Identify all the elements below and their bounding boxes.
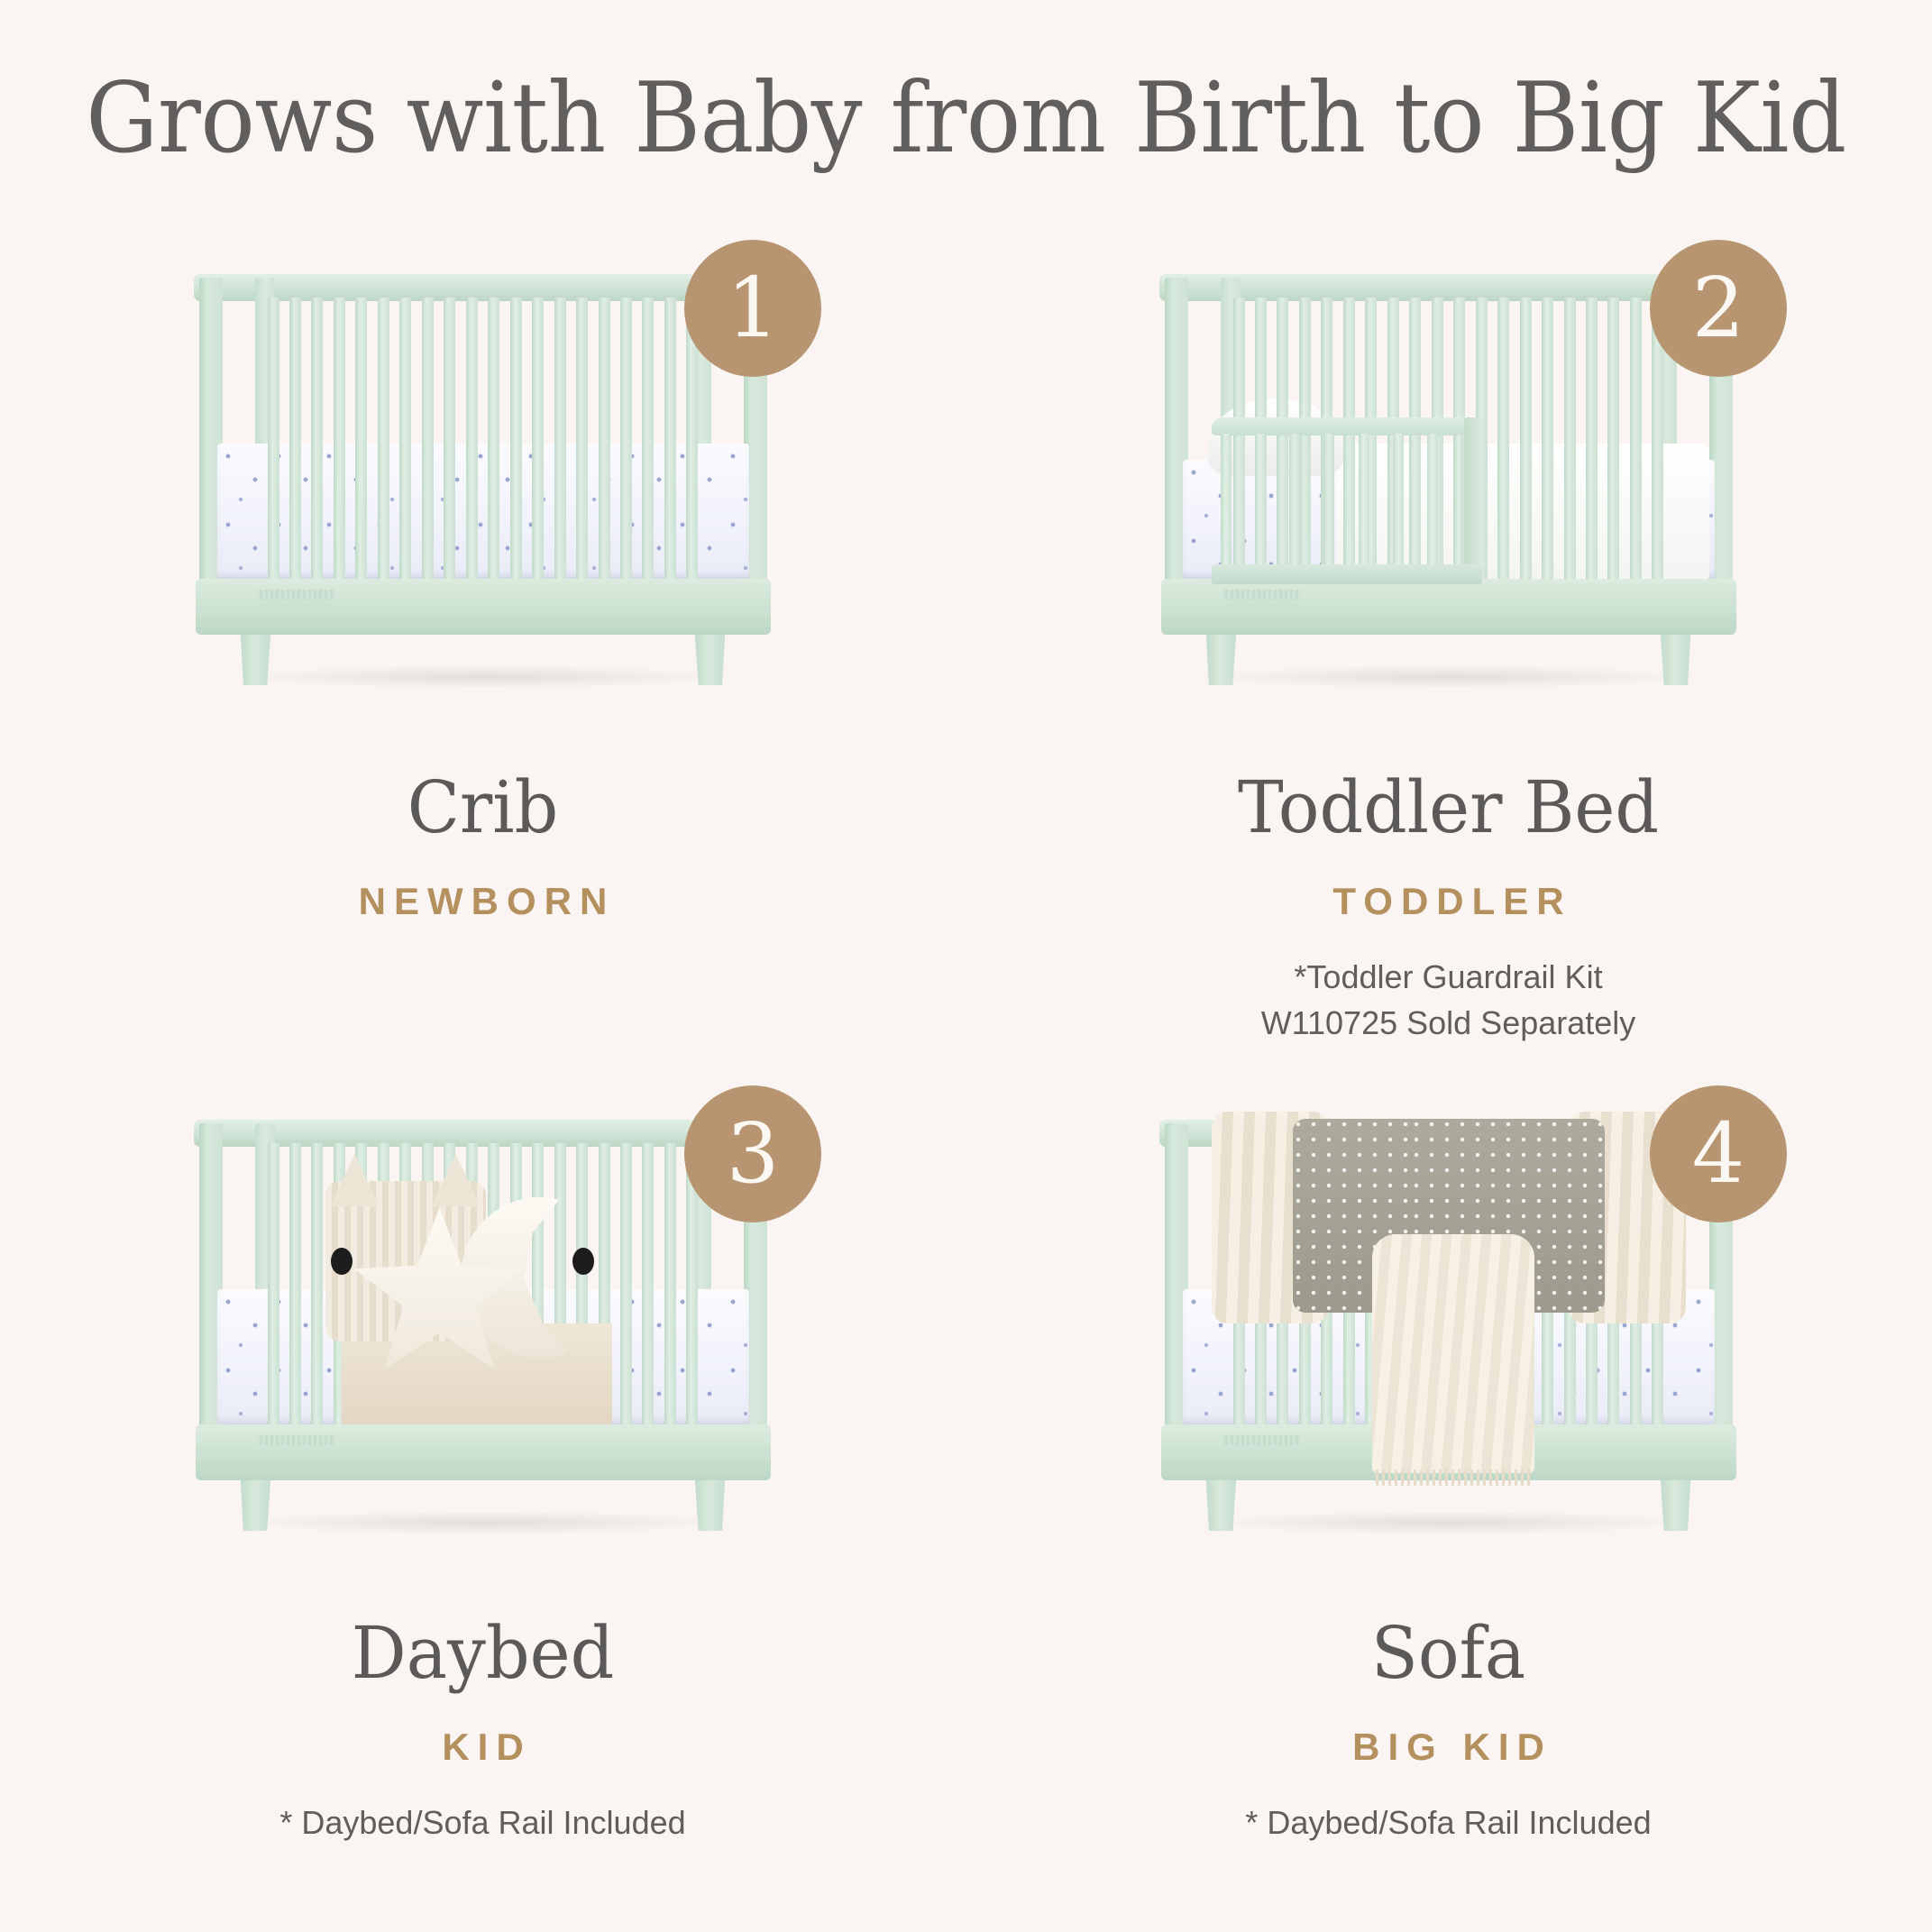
crib-slat xyxy=(399,298,411,584)
crib-slat xyxy=(532,298,544,584)
daybed-slat xyxy=(620,1143,632,1430)
toddler-guardrail xyxy=(1212,417,1482,584)
plush-star-body xyxy=(354,1208,526,1372)
crib-slat xyxy=(422,298,434,584)
crib-figure: 1 xyxy=(0,225,966,766)
sofa-leg-left xyxy=(1206,1475,1237,1531)
daybed-note: * Daybed/Sofa Rail Included xyxy=(0,1799,966,1845)
sofa-caption: Sofa BIG KID * Daybed/Sofa Rail Included xyxy=(966,1616,1931,1845)
step-badge-3: 3 xyxy=(684,1085,821,1222)
crib-slat xyxy=(355,298,367,584)
guardrail-top-rail xyxy=(1212,417,1482,435)
daybed-slat xyxy=(642,1143,654,1430)
toddler-bed-caption: Toddler Bed TODDLER *Toddler Guardrail K… xyxy=(966,770,1931,1046)
toddler-bed-slat xyxy=(1520,298,1532,584)
daybed-stage: KID xyxy=(0,1726,966,1769)
crib-slat xyxy=(554,298,566,584)
toddler-bed-slat xyxy=(1497,298,1509,584)
crib-slat xyxy=(599,298,610,584)
page-title: Grows with Baby from Birth to Big Kid xyxy=(68,65,1864,174)
sofa-throw-fringe xyxy=(1376,1470,1531,1486)
sofa-throw-blanket xyxy=(1372,1234,1534,1473)
toddler-bed-slat xyxy=(1630,298,1642,584)
crib-slat xyxy=(378,298,389,584)
step-badge-2: 2 xyxy=(1650,240,1787,377)
daybed-slat xyxy=(268,1143,279,1430)
sofa-figure: 4 xyxy=(966,1071,1931,1612)
toddler-bed-base-board xyxy=(1161,579,1736,635)
panel-toddler-bed: 2 xyxy=(966,225,1931,1071)
toddler-bed-leg-left xyxy=(1206,629,1237,685)
plush-moon-eye xyxy=(572,1248,594,1275)
daybed-slat xyxy=(664,1143,676,1430)
daybed-leg-left xyxy=(241,1475,271,1531)
toddler-bed-slat xyxy=(1607,298,1619,584)
guardrail-slat xyxy=(1221,434,1232,566)
daybed-title: Daybed xyxy=(24,1616,941,1691)
toddler-bed-stage: TODDLER xyxy=(966,880,1931,923)
sofa-shadow xyxy=(1203,1511,1695,1534)
sofa-leg-right xyxy=(1661,1475,1691,1531)
sofa-stage: BIG KID xyxy=(966,1726,1931,1769)
crib-slat xyxy=(466,298,478,584)
plush-star-pillow xyxy=(354,1208,526,1372)
crib-slats xyxy=(268,298,699,584)
daybed-figure: 3 xyxy=(0,1071,966,1612)
panel-sofa: 4 xyxy=(966,1071,1931,1917)
infographic-page: Grows with Baby from Birth to Big Kid 1 xyxy=(0,0,1932,1932)
crib-slat xyxy=(620,298,632,584)
daybed-base-board xyxy=(196,1424,771,1480)
toddler-bed-leg-right xyxy=(1661,629,1691,685)
crib-leg-left xyxy=(241,629,271,685)
step-badge-1: 1 xyxy=(684,240,821,377)
crib-stage: NEWBORN xyxy=(0,880,966,923)
toddler-bed-figure: 2 xyxy=(966,225,1931,766)
crib-slat xyxy=(488,298,499,584)
crib-shadow xyxy=(237,665,729,689)
step-badge-4: 4 xyxy=(1650,1085,1787,1222)
guardrail-slat xyxy=(1289,434,1300,566)
guardrail-slat xyxy=(1427,434,1438,566)
panel-crib: 1 Crib xyxy=(0,225,966,1071)
panel-daybed: 3 xyxy=(0,1071,966,1917)
toddler-bed-shadow xyxy=(1203,665,1695,689)
daybed-shadow xyxy=(237,1511,729,1534)
toddler-bed-slat xyxy=(1586,298,1598,584)
toddler-bed-note: *Toddler Guardrail Kit W110725 Sold Sepa… xyxy=(966,954,1931,1046)
guardrail-slat xyxy=(1323,434,1334,566)
crib-slat xyxy=(334,298,345,584)
toddler-bed-slat xyxy=(1564,298,1576,584)
guardrail-slat xyxy=(1393,434,1404,566)
crib-slat xyxy=(268,298,279,584)
conversion-stage-grid: 1 Crib xyxy=(0,225,1932,1917)
crib-slat xyxy=(311,298,323,584)
crib-title: Crib xyxy=(24,770,941,846)
crib-slat xyxy=(642,298,654,584)
daybed-caption: Daybed KID * Daybed/Sofa Rail Included xyxy=(0,1616,966,1845)
toddler-bed-slat xyxy=(1542,298,1553,584)
crib-slat xyxy=(576,298,588,584)
sofa-note: * Daybed/Sofa Rail Included xyxy=(966,1799,1931,1845)
crib-leg-right xyxy=(695,629,726,685)
crib-slat xyxy=(664,298,676,584)
toddler-bed-note-line2: W110725 Sold Separately xyxy=(966,1000,1931,1046)
toddler-bed-note-line1: *Toddler Guardrail Kit xyxy=(966,954,1931,1000)
crib-base-board xyxy=(196,579,771,635)
guardrail-bottom-rail xyxy=(1212,564,1482,584)
plush-fox-eye xyxy=(331,1248,353,1275)
daybed-leg-right xyxy=(695,1475,726,1531)
guardrail-slat xyxy=(1255,434,1266,566)
crib-caption: Crib NEWBORN xyxy=(0,770,966,923)
sofa-title: Sofa xyxy=(990,1616,1907,1691)
crib-slat xyxy=(444,298,455,584)
toddler-bed-title: Toddler Bed xyxy=(990,770,1907,846)
guardrail-slat xyxy=(1359,434,1369,566)
daybed-slat xyxy=(311,1143,323,1430)
crib-slat xyxy=(289,298,301,584)
guardrail-slats xyxy=(1221,434,1473,566)
guardrail-end-post xyxy=(1464,417,1482,584)
crib-slat xyxy=(510,298,522,584)
daybed-slat xyxy=(289,1143,301,1430)
